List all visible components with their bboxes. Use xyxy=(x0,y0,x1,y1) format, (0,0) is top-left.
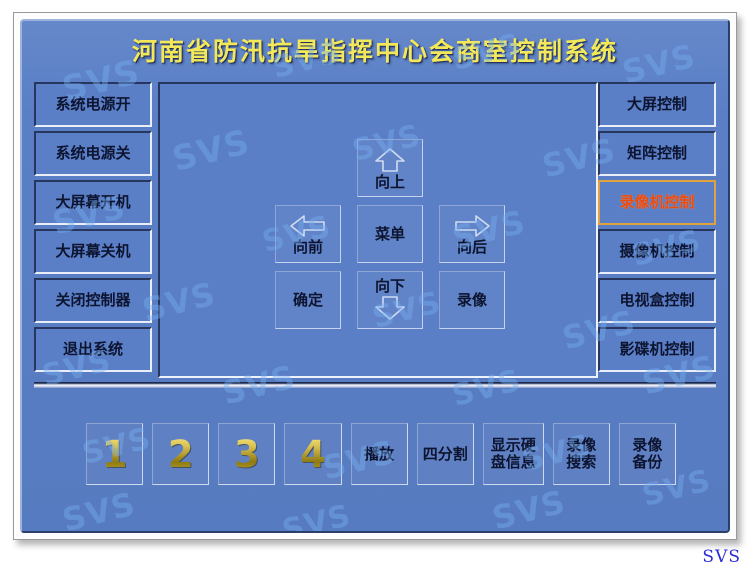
channel-3-label: 3 xyxy=(234,436,260,473)
dpad-left-label: 向前 xyxy=(293,239,323,256)
bottom-button-row: 1 2 3 4 播放 四分割 显示硬盘信息 xyxy=(86,421,676,487)
sidebar-right: 大屏控制 矩阵控制 录像机控制 摄像机控制 电视盒控制 影碟机控制 xyxy=(598,82,716,372)
window-frame: SVS SVS SVS SVS SVS SVS SVS SVS SVS SVS … xyxy=(13,12,737,540)
channel-2-label: 2 xyxy=(168,436,194,473)
channel-1-label: 1 xyxy=(102,436,128,473)
sidebar-right-label: 录像机控制 xyxy=(619,194,694,211)
dpad: 向上 向前 菜单 xyxy=(275,139,505,334)
sidebar-item-close-controller[interactable]: 关闭控制器 xyxy=(34,278,152,323)
sidebar-item-tvbox-control[interactable]: 电视盒控制 xyxy=(598,278,716,323)
sidebar-left-label: 大屏幕关机 xyxy=(55,243,130,260)
dpad-up-button[interactable]: 向上 xyxy=(357,139,423,197)
corner-watermark: SVS xyxy=(702,547,741,567)
watermark-svs: SVS xyxy=(59,485,140,533)
record-backup-label: 录像备份 xyxy=(632,437,662,471)
sidebar-item-matrix-control[interactable]: 矩阵控制 xyxy=(598,131,716,176)
arrow-left-icon xyxy=(288,213,328,239)
record-button-label: 录像 xyxy=(457,292,487,309)
sidebar-left-label: 系统电源开 xyxy=(55,96,130,113)
arrow-down-icon xyxy=(373,294,407,322)
confirm-button-label: 确定 xyxy=(293,292,323,309)
title-bar: 河南省防汛抗旱指挥中心会商室控制系统 xyxy=(22,21,728,78)
sidebar-left: 系统电源开 系统电源关 大屏幕开机 大屏幕关机 关闭控制器 退出系统 xyxy=(34,82,152,372)
control-system-panel: SVS SVS SVS SVS SVS SVS SVS SVS SVS SVS … xyxy=(20,19,730,533)
record-backup-button[interactable]: 录像备份 xyxy=(619,423,676,485)
show-disk-info-label: 显示硬盘信息 xyxy=(491,437,536,471)
sidebar-item-recorder-control[interactable]: 录像机控制 xyxy=(598,180,716,225)
watermark-svs: SVS xyxy=(279,498,355,533)
sidebar-item-bigscreen-control[interactable]: 大屏控制 xyxy=(598,82,716,127)
channel-1-button[interactable]: 1 xyxy=(86,423,143,485)
record-button[interactable]: 录像 xyxy=(439,271,505,329)
channel-4-button[interactable]: 4 xyxy=(284,423,341,485)
record-search-button[interactable]: 录像搜索 xyxy=(553,423,610,485)
sidebar-item-bigscreen-off[interactable]: 大屏幕关机 xyxy=(34,229,152,274)
sidebar-item-bigscreen-on[interactable]: 大屏幕开机 xyxy=(34,180,152,225)
arrow-right-icon xyxy=(452,213,492,239)
sidebar-right-label: 矩阵控制 xyxy=(627,145,687,162)
dpad-down-button[interactable]: 向下 xyxy=(357,271,423,329)
center-control-region: 向上 向前 菜单 xyxy=(158,82,598,378)
record-search-label: 录像搜索 xyxy=(566,437,596,471)
channel-3-button[interactable]: 3 xyxy=(218,423,275,485)
sidebar-item-system-power-off[interactable]: 系统电源关 xyxy=(34,131,152,176)
dpad-right-label: 向后 xyxy=(457,239,487,256)
sidebar-right-label: 电视盒控制 xyxy=(619,292,694,309)
sidebar-right-label: 影碟机控制 xyxy=(619,341,694,358)
confirm-button[interactable]: 确定 xyxy=(275,271,341,329)
arrow-up-icon xyxy=(373,146,407,174)
play-button-label: 播放 xyxy=(364,446,394,463)
quad-split-button[interactable]: 四分割 xyxy=(417,423,474,485)
sidebar-left-label: 系统电源关 xyxy=(55,145,130,162)
sidebar-item-camera-control[interactable]: 摄像机控制 xyxy=(598,229,716,274)
play-button[interactable]: 播放 xyxy=(351,423,408,485)
section-divider xyxy=(34,382,716,388)
channel-2-button[interactable]: 2 xyxy=(152,423,209,485)
menu-button-label: 菜单 xyxy=(375,226,405,243)
dpad-left-button[interactable]: 向前 xyxy=(275,205,341,263)
page-title: 河南省防汛抗旱指挥中心会商室控制系统 xyxy=(132,32,618,68)
dpad-right-button[interactable]: 向后 xyxy=(439,205,505,263)
sidebar-item-dvd-control[interactable]: 影碟机控制 xyxy=(598,327,716,372)
sidebar-item-system-power-on[interactable]: 系统电源开 xyxy=(34,82,152,127)
sidebar-right-label: 摄像机控制 xyxy=(619,243,694,260)
quad-split-button-label: 四分割 xyxy=(423,446,468,463)
screenshot-root: SVS SVS SVS SVS SVS SVS SVS SVS SVS SVS … xyxy=(0,0,755,575)
dpad-down-label: 向下 xyxy=(375,278,405,295)
watermark-svs: SVS xyxy=(489,483,570,533)
show-disk-info-button[interactable]: 显示硬盘信息 xyxy=(483,423,544,485)
channel-4-label: 4 xyxy=(300,436,326,473)
sidebar-left-label: 退出系统 xyxy=(63,341,123,358)
dpad-up-label: 向上 xyxy=(375,174,405,191)
sidebar-right-label: 大屏控制 xyxy=(627,96,687,113)
sidebar-left-label: 大屏幕开机 xyxy=(55,194,130,211)
sidebar-item-exit-system[interactable]: 退出系统 xyxy=(34,327,152,372)
menu-button[interactable]: 菜单 xyxy=(357,205,423,263)
sidebar-left-label: 关闭控制器 xyxy=(55,292,130,309)
